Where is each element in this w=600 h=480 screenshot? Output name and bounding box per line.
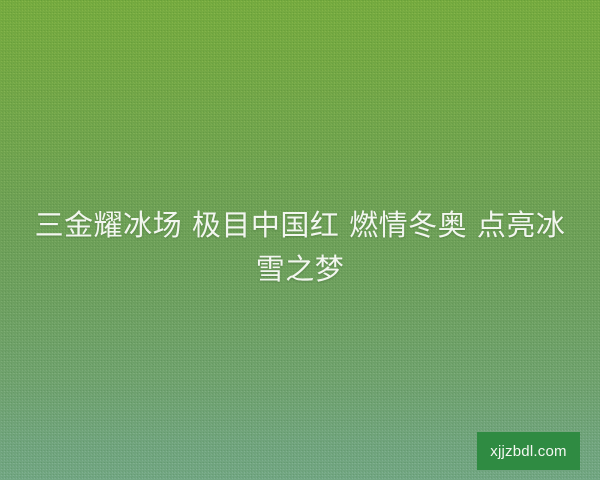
watermark-label: xjjzbdl.com [490,444,566,459]
watermark-badge: xjjzbdl.com [477,432,580,470]
image-canvas: 三金耀冰场 极目中国红 燃情冬奥 点亮冰雪之梦 xjjzbdl.com [0,0,600,480]
page-title: 三金耀冰场 极目中国红 燃情冬奥 点亮冰雪之梦 [28,203,572,291]
